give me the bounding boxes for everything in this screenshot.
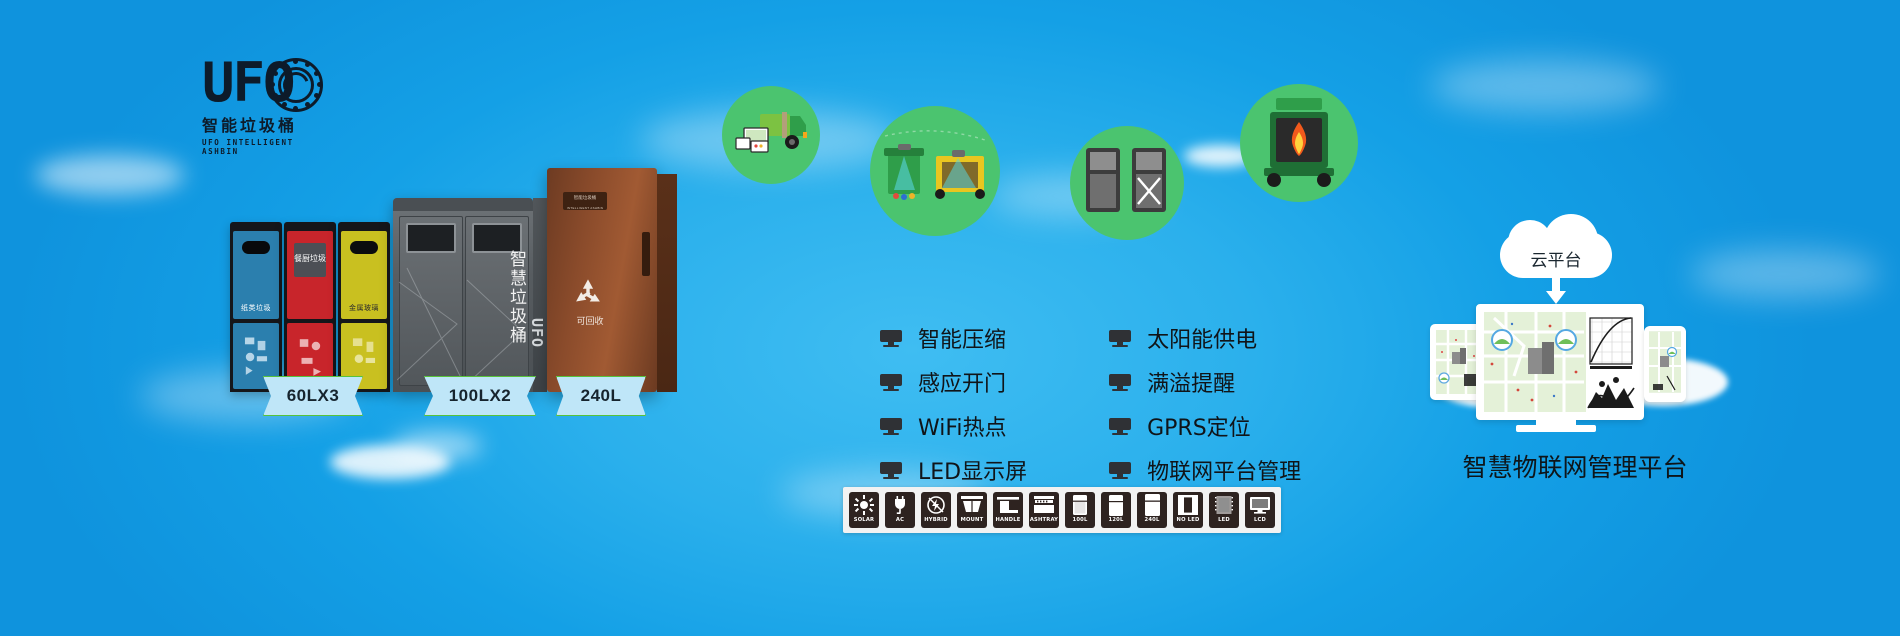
spec-led[interactable]: LED [1209,492,1239,528]
feature-label: 满溢提醒 [1147,366,1235,398]
bin-three-compartment: 纸类垃圾 餐厨垃圾 [230,222,390,392]
bin-compartment-label: 纸类垃圾 [233,303,279,313]
fire-alarm-circle [1240,84,1358,202]
capacity-label: 100LX2 [449,386,512,406]
feature-label: 感应开门 [918,366,1006,398]
spec-caption: SOLAR [854,516,874,524]
led-panel-icon [1211,494,1237,516]
spec-caption: MOUNT [961,516,984,524]
garbage-truck-with-devices-icon [722,86,820,184]
capacity-label: 240L [581,386,622,406]
bin-ultrasonic-sensor-icon [870,106,1000,236]
bin-single-brown: 智能垃圾桶 INTELLIGENT ASHBIN 可回收 [547,168,657,392]
bin-top-label-en: INTELLIGENT ASHBIN [563,202,607,212]
cloud-decoration [330,445,450,479]
feature-item: 满溢提醒 [1109,366,1301,398]
fill-level-sensor-circle [870,106,1000,236]
feature-label: LED显示屏 [918,454,1027,486]
spec-120l[interactable]: 120L [1101,492,1131,528]
spec-solar[interactable]: SOLAR [849,492,879,528]
capacity-ribbon-240l: 240L [556,376,646,416]
monitor-icon [880,330,902,347]
feature-item: LED显示屏 [880,454,1027,486]
capacity-ribbon-60lx3: 60LX3 [263,376,363,416]
feature-item: 太阳能供电 [1109,322,1301,354]
iot-platform-illustration: 云平台 [1430,232,1720,442]
waste-pictograms [239,329,273,380]
spec-caption: NO LED [1177,516,1200,524]
spec-handle[interactable]: HANDLE [993,492,1023,528]
hybrid-power-icon [923,494,949,516]
bin-side-label: 智慧垃圾桶 [495,250,529,358]
sun-icon [851,494,877,516]
spec-caption: 240L [1145,516,1160,524]
feature-label: GPRS定位 [1147,410,1251,442]
power-plug-icon [887,494,913,516]
waste-pictograms [293,329,327,380]
capacity-label: 60LX3 [287,386,340,406]
monitor-icon [880,374,902,391]
bin-120l-icon [1103,494,1129,516]
feature-label: WiFi热点 [918,410,1007,442]
lcd-screen-icon [1247,494,1273,516]
twin-compactor-bin-icon [1070,126,1184,240]
spec-caption: 100L [1073,516,1088,524]
monitor-icon [1109,418,1131,435]
arrow-down-icon [1545,278,1567,304]
desktop-monitor [1476,304,1644,420]
mobile-phone-device [1644,326,1686,402]
recycle-icon [571,276,605,310]
feature-item: GPRS定位 [1109,410,1301,442]
bin-brand-mark: UFO [528,318,546,348]
bin-top-label: 智能垃圾桶 INTELLIGENT ASHBIN [563,192,607,210]
bin-top-label-cn: 智能垃圾桶 [563,192,607,202]
cloud-platform-tag: 云平台 [1500,232,1612,278]
cloud-platform-label: 云平台 [1500,246,1612,271]
poster-canvas: UFO 智能垃圾桶 UFO INTELLIGENT ASHBIN [0,0,1900,636]
feature-label: 太阳能供电 [1147,322,1257,354]
waste-pictograms [347,329,381,380]
spec-icon-strip: SOLAR AC HYBRID MOUN [843,487,1281,533]
spec-caption: HANDLE [995,516,1020,524]
feature-item: 智能压缩 [880,322,1027,354]
ashtray-icon [1031,494,1057,516]
bin-compartment-label: 金属玻璃 [341,303,387,313]
spec-lcd[interactable]: LCD [1245,492,1275,528]
bin-100l-icon [1067,494,1093,516]
spec-240l[interactable]: 240L [1137,492,1167,528]
bearing-ring-icon [269,58,323,112]
platform-caption: 智慧物联网管理平台 [1430,448,1720,484]
feature-item: WiFi热点 [880,410,1027,442]
feature-item: 感应开门 [880,366,1027,398]
spec-caption: ASHTRAY [1030,516,1058,524]
cloud-decoration [1430,60,1660,112]
spec-ac[interactable]: AC [885,492,915,528]
monitor-icon [880,462,902,479]
logo-en-name: UFO INTELLIGENT ASHBIN [202,138,322,156]
logo-cn-name: 智能垃圾桶 [202,112,322,136]
wall-mount-icon [959,494,985,516]
feature-list: 智能压缩 感应开门 WiFi热点 LED显示屏 太阳能供电 满溢提醒 [880,322,1301,486]
bin-fire-detection-icon [1240,84,1358,202]
bin-compartment-label: 餐厨垃圾 [287,253,333,264]
fleet-dispatch-circle [722,86,820,184]
feature-column-right: 太阳能供电 满溢提醒 GPRS定位 物联网平台管理 [1109,322,1301,486]
feature-column-left: 智能压缩 感应开门 WiFi热点 LED显示屏 [880,322,1027,486]
handle-icon [995,494,1021,516]
compaction-circle [1070,126,1184,240]
cloud-decoration [392,432,482,460]
spec-mount[interactable]: MOUNT [957,492,987,528]
spec-100l[interactable]: 100L [1065,492,1095,528]
monitor-icon [1109,330,1131,347]
spec-ashtray[interactable]: ASHTRAY [1029,492,1059,528]
feature-label: 智能压缩 [918,322,1006,354]
cloud-decoration [35,155,185,195]
spec-caption: HYBRID [924,516,947,524]
bin-recycle-label: 可回收 [547,314,633,327]
monitor-icon [1109,374,1131,391]
spec-caption: AC [896,516,904,524]
no-led-panel-icon [1175,494,1201,516]
spec-caption: LCD [1254,516,1266,524]
capacity-ribbon-100lx2: 100LX2 [424,376,536,416]
spec-hybrid[interactable]: HYBRID [921,492,951,528]
spec-no-led[interactable]: NO LED [1173,492,1203,528]
feature-label: 物联网平台管理 [1147,454,1301,486]
spec-caption: 120L [1109,516,1124,524]
monitor-icon [1109,462,1131,479]
monitor-icon [880,418,902,435]
brand-logo: UFO 智能垃圾桶 UFO INTELLIGENT ASHBIN [202,55,322,147]
spec-caption: LED [1218,516,1230,524]
bin-240l-icon [1139,494,1165,516]
feature-item: 物联网平台管理 [1109,454,1301,486]
